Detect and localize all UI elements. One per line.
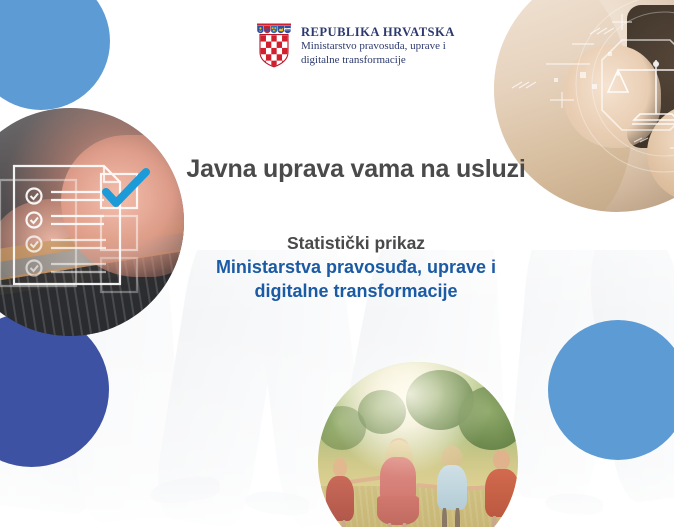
subtitle-line-3: digitalne transformacije	[38, 279, 674, 303]
ministry-logo-text: REPUBLIKA HRVATSKA Ministarstvo pravosuđ…	[301, 22, 455, 67]
croatian-coat-of-arms-icon	[256, 22, 292, 68]
logo-ministry-name-line2: digitalne transformacije	[301, 54, 455, 68]
decorative-circle-top-left	[0, 0, 110, 110]
page-subtitle: Statistički prikaz Ministarstva pravosuđ…	[0, 231, 674, 303]
subtitle-line-1: Statistički prikaz	[38, 231, 674, 255]
ministry-logo: REPUBLIKA HRVATSKA Ministarstvo pravosuđ…	[256, 22, 455, 68]
logo-country-name: REPUBLIKA HRVATSKA	[301, 25, 455, 40]
children-field-photo	[318, 362, 518, 527]
page-title: Javna uprava vama na usluzi	[0, 155, 674, 184]
logo-ministry-name-line1: Ministarstvo pravosuđa, uprave i	[301, 40, 455, 54]
subtitle-line-2: Ministarstva pravosuđa, uprave i	[38, 255, 674, 279]
cover-page: REPUBLIKA HRVATSKA Ministarstvo pravosuđ…	[0, 0, 674, 527]
